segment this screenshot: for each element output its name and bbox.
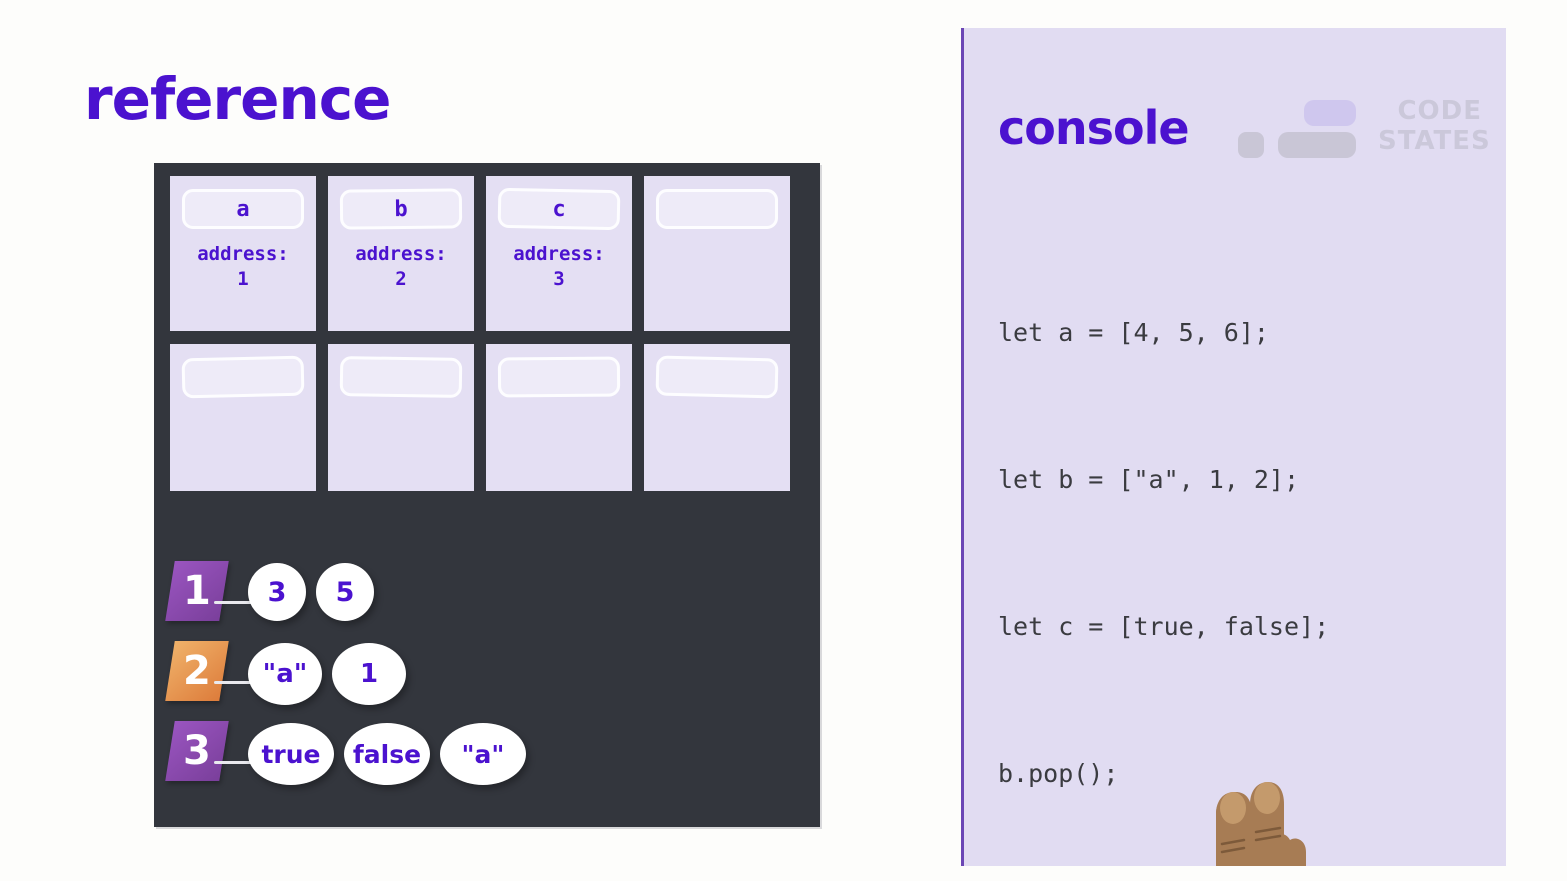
heap-value-bubble[interactable]: false — [344, 723, 430, 785]
memory-cell-address: address: 2 — [328, 242, 474, 291]
heap-row: 3 true false "a" — [170, 715, 810, 795]
console-panel: console CODESTATES let a = [4, 5, 6]; le… — [964, 28, 1506, 866]
pointing-hand-illustration — [1196, 770, 1326, 866]
heap-rows: 1 3 5 2 "a" 1 — [170, 555, 810, 795]
code-line: let b = ["a", 1, 2]; — [998, 455, 1498, 504]
memory-grid: a address: 1 b address: 2 c address: 3 — [170, 176, 804, 491]
memory-cell-name: a — [236, 197, 249, 222]
logo-wordmark-line2: STATES — [1378, 126, 1491, 156]
memory-cell-chip — [656, 356, 779, 399]
memory-cell-empty[interactable] — [644, 176, 790, 331]
memory-panel: a address: 1 b address: 2 c address: 3 — [154, 163, 820, 827]
heap-value-list: "a" 1 — [248, 635, 406, 705]
code-line: let a = [4, 5, 6]; — [998, 308, 1498, 357]
heap-value-bubble[interactable]: "a" — [248, 643, 322, 705]
memory-cell[interactable]: b address: 2 — [328, 176, 474, 331]
memory-cell-empty[interactable] — [644, 344, 790, 491]
memory-cell-name: b — [394, 196, 408, 221]
page-title: reference — [84, 70, 390, 128]
memory-cell-address-label: address: — [513, 243, 605, 265]
logo-wordmark-line1: CODE — [1397, 96, 1482, 126]
heap-address-tag[interactable]: 2 — [165, 641, 229, 701]
heap-value-bubble[interactable]: 5 — [316, 563, 374, 621]
memory-cell-chip: c — [498, 188, 621, 230]
heap-value-bubble[interactable]: 3 — [248, 563, 306, 621]
heap-row: 2 "a" 1 — [170, 635, 810, 715]
memory-cell-address-label: address: — [197, 243, 289, 265]
memory-cell-chip — [498, 356, 620, 397]
memory-cell-address: address: 1 — [170, 242, 316, 291]
memory-cell-chip — [182, 356, 305, 399]
reference-section: reference a address: 1 b address: 2 c — [0, 0, 940, 881]
memory-cell-address-label: address: — [355, 243, 447, 265]
heap-value-bubble[interactable]: 1 — [332, 643, 406, 705]
logo-bar-lower-icon — [1278, 132, 1356, 158]
heap-address-label: 1 — [183, 571, 211, 611]
heap-value-list: true false "a" — [248, 715, 526, 785]
heap-value-bubble[interactable]: true — [248, 723, 334, 785]
memory-cell-address-value: 1 — [237, 268, 248, 290]
heap-address-label: 2 — [183, 651, 211, 691]
console-header: console CODESTATES — [998, 88, 1478, 168]
logo-bar-upper-icon — [1304, 100, 1356, 126]
memory-cell[interactable]: c address: 3 — [486, 176, 632, 331]
memory-cell-chip — [656, 189, 778, 229]
heap-address-tag[interactable]: 1 — [165, 561, 229, 621]
memory-cell-empty[interactable] — [486, 344, 632, 491]
memory-cell-address-value: 3 — [553, 268, 564, 290]
heap-row: 1 3 5 — [170, 555, 810, 635]
memory-cell-address: address: 3 — [486, 242, 632, 291]
heap-value-bubble[interactable]: "a" — [440, 723, 526, 785]
heap-address-label: 3 — [183, 731, 211, 771]
logo-wordmark: CODESTATES — [1378, 96, 1482, 156]
code-line: let c = [true, false]; — [998, 602, 1498, 651]
heap-value-list: 3 5 — [248, 555, 374, 621]
memory-cell-name: c — [552, 196, 566, 221]
memory-cell-empty[interactable] — [328, 344, 474, 491]
memory-cell-empty[interactable] — [170, 344, 316, 491]
memory-cell-chip — [340, 356, 463, 398]
memory-cell-address-value: 2 — [395, 268, 406, 290]
memory-cell-chip: a — [182, 189, 304, 229]
memory-cell-chip: b — [340, 188, 462, 229]
heap-address-tag[interactable]: 3 — [165, 721, 229, 781]
logo-dot-icon — [1238, 132, 1264, 158]
code-states-logo: CODESTATES — [1230, 94, 1480, 170]
console-title: console — [998, 105, 1189, 151]
console-code-block[interactable]: let a = [4, 5, 6]; let b = ["a", 1, 2]; … — [998, 210, 1498, 866]
memory-cell[interactable]: a address: 1 — [170, 176, 316, 331]
console-section: console CODESTATES let a = [4, 5, 6]; le… — [961, 28, 1506, 866]
